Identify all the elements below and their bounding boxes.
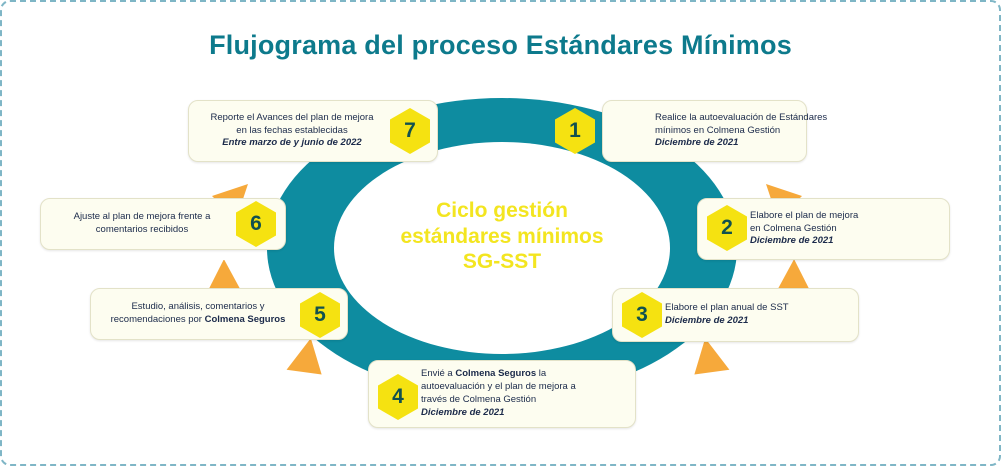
cycle-center-label: Ciclo gestión estándares mínimos SG-SST bbox=[334, 198, 670, 275]
step-4-line-1: Envié a Colmena Seguros la bbox=[421, 368, 625, 381]
step-6-text: Ajuste al plan de mejora frente a coment… bbox=[51, 199, 233, 249]
step-6-line-2: comentarios recibidos bbox=[51, 224, 233, 237]
step-3-line-1: Elabore el plan anual de SST bbox=[665, 302, 848, 315]
step-2-line-3: Diciembre de 2021 bbox=[750, 235, 939, 248]
cycle-center-line-2: estándares mínimos bbox=[334, 224, 670, 250]
step-3-text: Elabore el plan anual de SST Diciembre d… bbox=[665, 289, 848, 341]
step-4-line-2: autoevaluación y el plan de mejora a bbox=[421, 381, 625, 394]
step-4-line-4: Diciembre de 2021 bbox=[421, 407, 625, 420]
step-6-line-1: Ajuste al plan de mejora frente a bbox=[51, 211, 233, 224]
step-1-line-1: Realice la autoevaluación de Estándares bbox=[655, 112, 796, 125]
arrow-4-to-5 bbox=[282, 340, 328, 386]
step-1-line-2: mínimos en Colmena Gestión bbox=[655, 125, 796, 138]
step-5-line-2: recomendaciones por Colmena Seguros bbox=[101, 314, 295, 327]
step-1-line-3: Diciembre de 2021 bbox=[655, 137, 796, 150]
step-4-text: Envié a Colmena Seguros la autoevaluació… bbox=[421, 361, 625, 427]
step-7-line-3: Entre marzo de y junio de 2022 bbox=[199, 137, 385, 150]
step-4-line-3: través de Colmena Gestión bbox=[421, 394, 625, 407]
step-5-text: Estudio, análisis, comentarios y recomen… bbox=[101, 289, 295, 339]
step-1-text: Realice la autoevaluación de Estándares … bbox=[655, 101, 796, 161]
flowchart-canvas: Flujograma del proceso Estándares Mínimo… bbox=[0, 0, 1001, 466]
cycle-center-line-3: SG-SST bbox=[334, 249, 670, 275]
step-2-line-1: Elabore el plan de mejora bbox=[750, 210, 939, 223]
step-card-1[interactable]: Realice la autoevaluación de Estándares … bbox=[602, 100, 807, 162]
step-7-line-1: Reporte el Avances del plan de mejora bbox=[199, 112, 385, 125]
page-title: Flujograma del proceso Estándares Mínimo… bbox=[2, 30, 999, 61]
arrow-3-to-4 bbox=[688, 340, 734, 386]
step-2-text: Elabore el plan de mejora en Colmena Ges… bbox=[750, 199, 939, 259]
step-7-text: Reporte el Avances del plan de mejora en… bbox=[199, 101, 385, 161]
step-3-line-2: Diciembre de 2021 bbox=[665, 315, 848, 328]
step-2-line-2: en Colmena Gestión bbox=[750, 223, 939, 236]
cycle-center-line-1: Ciclo gestión bbox=[334, 198, 670, 224]
step-5-line-1: Estudio, análisis, comentarios y bbox=[101, 301, 295, 314]
step-7-line-2: en las fechas establecidas bbox=[199, 125, 385, 138]
